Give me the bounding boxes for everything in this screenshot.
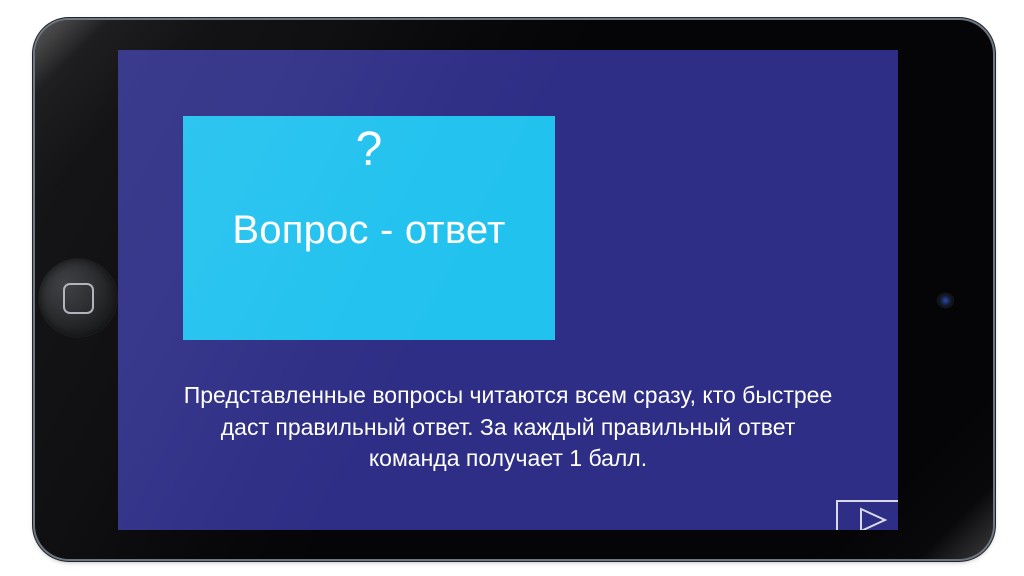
tablet-screen: ? Вопрос - ответ Представленные вопросы … [118,50,898,530]
play-triangle-icon [855,507,889,530]
question-mark-symbol: ? [183,126,555,174]
title-card: ? Вопрос - ответ [183,116,555,340]
slide-body-text: Представленные вопросы читаются всем сра… [174,380,842,475]
camera-lens-icon [938,294,953,307]
tablet-device: ? Вопрос - ответ Представленные вопросы … [35,20,993,559]
screenshot-stage: ? Вопрос - ответ Представленные вопросы … [0,0,1024,576]
rounded-square-home-icon [63,283,94,314]
slide-title: Вопрос - ответ [183,208,555,252]
play-next-button[interactable] [836,500,898,530]
home-button[interactable] [39,259,117,337]
